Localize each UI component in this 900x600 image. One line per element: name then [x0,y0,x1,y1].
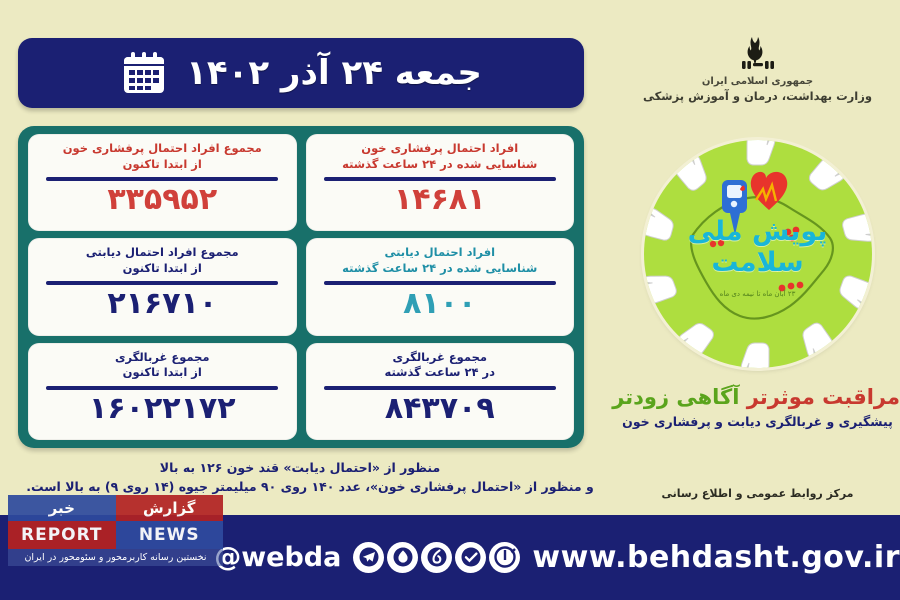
statistics-panel: افراد احتمال پرفشاری خون شناسایی شده در … [18,126,584,448]
telegram-icon[interactable] [353,542,384,573]
watermark-english-row: NEWS REPORT [8,521,223,549]
stat-card-hypertension-total: مجموع افراد احتمال پرفشاری خون از ابتدا … [28,134,297,231]
footnote-line-1: منظور از «احتمال دیابت» قند خون ۱۲۶ به ب… [10,458,610,477]
slogan-main: مراقبت موثرتر آگاهی زودتر [615,385,900,409]
stat-card-value: ۱۶۰۲۲۱۷۲ [89,393,235,425]
rubika-icon[interactable] [387,542,418,573]
branding-column: جمهوری اسلامی ایران وزارت بهداشت، درمان … [615,0,900,510]
stat-card-value: ۸۱۰۰ [403,288,476,320]
logo-script-text: پویش ملی سلامت [644,216,872,278]
infographic-canvas: جمعه ۲۴ آذر ۱۴۰۲ افراد احتمال پرفشاری خو… [0,0,900,600]
logo-sub-text: ۲۳ آبان ماه تا نیمه دی ماه [644,290,872,298]
date-text: جمعه ۲۴ آذر ۱۴۰۲ [186,53,482,93]
stat-card-screening-total: مجموع غربالگری از ابتدا تاکنون ۱۶۰۲۲۱۷۲ [28,343,297,440]
watermark-fa-khabar: خبر [8,495,116,521]
eitaa-icon[interactable] [489,542,520,573]
divider [46,177,278,181]
stat-card-value: ۸۴۳۷۰۹ [385,393,495,425]
stat-card-value: ۲۱۶۷۱۰ [107,288,217,320]
footnote-line-2: و منظور از «احتمال پرفشاری خون»، عدد ۱۴۰… [10,477,610,496]
divider [324,177,556,181]
stat-card-value: ۳۳۵۹۵۲ [107,184,217,216]
divider [46,281,278,285]
date-banner: جمعه ۲۴ آذر ۱۴۰۲ [18,38,584,108]
bale-icon[interactable] [455,542,486,573]
divider [324,386,556,390]
campaign-slogan: مراقبت موثرتر آگاهی زودتر پیشگیری و غربا… [615,385,900,429]
ministry-line-1: جمهوری اسلامی ایران [615,76,900,87]
public-relations-label: مرکز روابط عمومی و اطلاع رسانی [615,487,900,500]
stat-card-diabetes-24h: افراد احتمال دیابتی شناسایی شده در ۲۴ سا… [306,238,575,335]
stat-card-value: ۱۴۶۸۱ [394,184,486,216]
divider [324,281,556,285]
stat-card-title: افراد احتمال پرفشاری خون شناسایی شده در … [342,141,537,172]
stat-card-title: مجموع غربالگری از ابتدا تاکنون [115,350,210,381]
iran-emblem-icon [741,34,775,70]
watermark-fa-gozaresh: گزارش [116,495,224,521]
stat-card-hypertension-24h: افراد احتمال پرفشاری خون شناسایی شده در … [306,134,575,231]
stat-card-title: افراد احتمال دیابتی شناسایی شده در ۲۴ سا… [342,245,537,276]
social-handle[interactable]: @webda [214,542,341,573]
website-url[interactable]: www.behdasht.gov.ir [532,540,900,575]
slogan-green: آگاهی زودتر [612,385,739,409]
stats-column: جمعه ۲۴ آذر ۱۴۰۲ افراد احتمال پرفشاری خو… [0,0,620,510]
ministry-block: جمهوری اسلامی ایران وزارت بهداشت، درمان … [615,34,900,103]
stat-card-diabetes-total: مجموع افراد احتمال دیابتی از ابتدا تاکنو… [28,238,297,335]
social-links [353,542,520,573]
stat-card-screening-24h: مجموع غربالگری در ۲۴ ساعت گذشته ۸۴۳۷۰۹ [306,343,575,440]
soroush-icon[interactable] [421,542,452,573]
watermark-tagline: نخستین رسانه کاربرمحور و سئومحور در ایرا… [8,549,223,566]
stat-card-title: مجموع افراد احتمال پرفشاری خون از ابتدا … [63,141,262,172]
divider [46,386,278,390]
calendar-icon [120,49,168,97]
watermark-persian-row: خبر گزارش [8,495,223,521]
pouyesh-melli-salamat-logo: پویش ملی سلامت ۲۳ آبان ماه تا نیمه دی ما… [644,140,872,368]
slogan-red: مراقبت موثرتر [747,385,900,409]
newsreport-watermark: خبر گزارش NEWS REPORT نخستین رسانه کاربر… [8,495,223,566]
ministry-line-2: وزارت بهداشت، درمان و آموزش پزشکی [615,89,900,103]
stat-card-title: مجموع افراد احتمال دیابتی از ابتدا تاکنو… [86,245,239,276]
slogan-sub: پیشگیری و غربالگری دیابت و پرفشاری خون [615,414,900,429]
stat-card-title: مجموع غربالگری در ۲۴ ساعت گذشته [384,350,495,381]
watermark-news: NEWS [116,521,224,549]
footnotes: منظور از «احتمال دیابت» قند خون ۱۲۶ به ب… [10,458,610,497]
watermark-report: REPORT [8,521,116,549]
